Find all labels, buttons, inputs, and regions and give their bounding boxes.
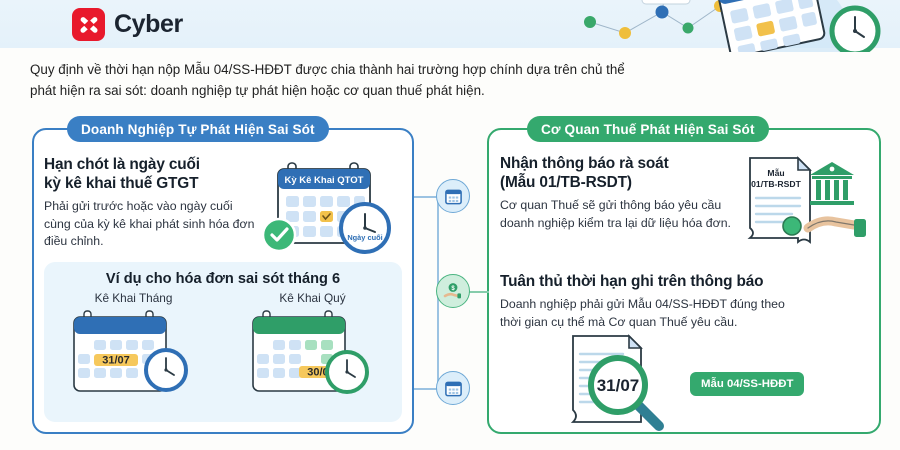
example-item-month: Kê Khai Tháng 31/07: [44, 291, 223, 409]
header-decoration: [570, 0, 900, 52]
check-circle-icon: [263, 219, 295, 251]
right-block1-heading-line-1: Nhận thông báo rà soát: [500, 155, 669, 172]
left-block-heading-line-2: kỳ kê khai thuế GTGT: [44, 175, 198, 192]
intro-paragraph: Quy định về thời hạn nộp Mẫu 04/SS-HĐĐT …: [30, 60, 720, 102]
money-hand-icon: $: [443, 281, 463, 301]
form-badge-wrapper: Mẫu 04/SS-HĐĐT: [690, 372, 804, 396]
right-block1-body: Cơ quan Thuế sẽ gửi thông báo yêu cầu do…: [500, 197, 740, 232]
right-block-notice: Nhận thông báo rà soát (Mẫu 01/TB-RSDT) …: [500, 154, 740, 232]
right-block1-heading: Nhận thông báo rà soát (Mẫu 01/TB-RSDT): [500, 154, 740, 192]
left-block-deadline: Hạn chót là ngày cuối kỳ kê khai thuế GT…: [44, 155, 259, 251]
example-caption-quarter: Kê Khai Quý: [223, 291, 402, 305]
intro-line-2: phát hiện ra sai sót: doanh nghiệp tự ph…: [30, 81, 720, 102]
clock-label: Ngày cuối: [347, 233, 382, 242]
calendar-icon: [444, 379, 463, 398]
right-block2-body-line-1: Doanh nghiệp phải gửi Mẫu 04/SS-HĐĐT đún…: [500, 297, 785, 311]
calendar-icon: [444, 187, 463, 206]
left-calendar-illustration: Kỳ Kê Khai QTOT Ngày cuối: [262, 158, 402, 268]
left-column-banner: Doanh Nghiệp Tự Phát Hiện Sai Sót: [67, 116, 329, 142]
right-block-compliance: Tuân thủ thời hạn ghi trên thông báo Doa…: [500, 272, 860, 331]
notice-document-illustration: Mẫu 01/TB-RSDT: [742, 150, 882, 263]
connector-line-left-1: [414, 196, 438, 198]
example-title: Ví dụ cho hóa đơn sai sót tháng 6: [44, 262, 402, 287]
brand-logo: Cyber: [72, 8, 183, 41]
deadline-clock-icon: Ngày cuối: [341, 204, 389, 252]
doc-label-line-1: Mẫu: [767, 168, 784, 178]
connector-line-left-2: [414, 388, 438, 390]
magnifier-date: 31/07: [597, 376, 640, 395]
connector-node-money-hand: $: [436, 274, 470, 308]
open-hand-icon: [808, 219, 866, 237]
example-box: Ví dụ cho hóa đơn sai sót tháng 6 Kê Kha…: [44, 262, 402, 422]
form-badge: Mẫu 04/SS-HĐĐT: [690, 372, 804, 396]
infographic-page: Cyber Quy định về thời hạn nộp Mẫu 04/SS…: [0, 0, 900, 450]
right-column-banner: Cơ Quan Thuế Phát Hiện Sai Sót: [527, 116, 769, 142]
right-block1-heading-line-2: (Mẫu 01/TB-RSDT): [500, 174, 632, 191]
example-caption-month: Kê Khai Tháng: [44, 291, 223, 305]
calendar-title: Kỳ Kê Khai QTOT: [284, 175, 363, 186]
brand-name: Cyber: [114, 10, 183, 39]
magnifier-document-illustration: 31/07: [563, 330, 688, 440]
left-block-heading: Hạn chót là ngày cuối kỳ kê khai thuế GT…: [44, 155, 259, 193]
example-item-quarter: Kê Khai Quý: [223, 291, 402, 409]
connector-node-calendar-top: [436, 179, 470, 213]
doc-label-line-2: 01/TB-RSDT: [751, 179, 801, 189]
bank-building-icon: [810, 162, 854, 205]
example-date-month: 31/07: [102, 355, 130, 367]
left-block-body: Phải gửi trước hoặc vào ngày cuối cùng c…: [44, 198, 259, 250]
right-block2-heading: Tuân thủ thời hạn ghi trên thông báo: [500, 272, 860, 291]
x-mark-logo-icon: [72, 8, 105, 41]
right-block2-body-line-2: thời gian cụ thể mà Cơ quan Thuế yêu cầu…: [500, 315, 737, 329]
intro-line-1: Quy định về thời hạn nộp Mẫu 04/SS-HĐĐT …: [30, 60, 720, 81]
right-block2-body: Doanh nghiệp phải gửi Mẫu 04/SS-HĐĐT đún…: [500, 296, 860, 331]
left-block-heading-line-1: Hạn chót là ngày cuối: [44, 156, 200, 173]
connector-node-calendar-bottom: [436, 371, 470, 405]
